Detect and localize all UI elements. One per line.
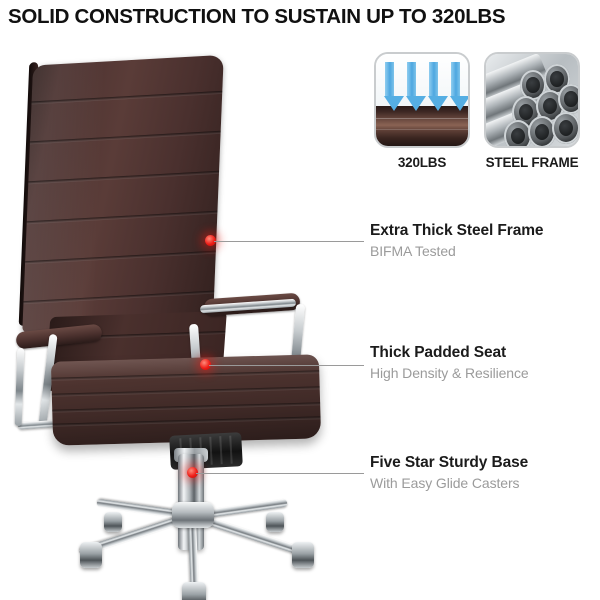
callout-subtitle: With Easy Glide Casters — [370, 475, 528, 491]
weight-capacity-badge: 320LBS — [372, 52, 472, 170]
steel-pipes-icon — [484, 52, 580, 148]
callout-leader-line — [209, 365, 364, 366]
badge-label: STEEL FRAME — [486, 155, 579, 170]
callout-subtitle: High Density & Resilience — [370, 365, 529, 381]
badge-label: 320LBS — [398, 155, 446, 170]
base-hub — [172, 502, 214, 528]
caster-wheel — [266, 512, 284, 532]
callout-title: Thick Padded Seat — [370, 344, 529, 362]
pipe-end — [558, 84, 580, 114]
badge-ground-area — [376, 106, 468, 146]
badge-row: 320LBS STEEL FRAME — [372, 52, 582, 170]
down-arrows-on-surface-icon — [374, 52, 470, 148]
down-arrow-icon — [428, 62, 439, 111]
caster-wheel — [80, 542, 102, 568]
infographic-canvas: SOLID CONSTRUCTION TO SUSTAIN UP TO 320L… — [0, 0, 600, 600]
office-chair-illustration — [0, 38, 360, 598]
armrest-chrome-front — [15, 348, 25, 426]
callout-title: Five Star Sturdy Base — [370, 454, 528, 472]
callout-subtitle: BIFMA Tested — [370, 243, 543, 259]
caster-wheel — [182, 582, 206, 600]
down-arrow-icon — [384, 62, 395, 111]
page-title: SOLID CONSTRUCTION TO SUSTAIN UP TO 320L… — [8, 5, 598, 29]
steel-frame-callout: Extra Thick Steel Frame BIFMA Tested — [370, 222, 543, 259]
callout-title: Extra Thick Steel Frame — [370, 222, 543, 240]
sturdy-base-callout: Five Star Sturdy Base With Easy Glide Ca… — [370, 454, 528, 491]
steel-frame-badge: STEEL FRAME — [482, 52, 582, 170]
chair-backrest — [22, 55, 224, 333]
five-star-base — [20, 490, 340, 600]
chair-seat — [51, 354, 321, 445]
pipe-end — [552, 112, 580, 144]
caster-wheel — [104, 512, 122, 532]
padded-seat-callout: Thick Padded Seat High Density & Resilie… — [370, 344, 529, 381]
callout-leader-line — [214, 241, 364, 242]
down-arrow-icon — [450, 62, 461, 111]
down-arrow-icon — [406, 62, 417, 111]
callout-leader-line — [196, 473, 364, 474]
caster-wheel — [292, 542, 314, 568]
